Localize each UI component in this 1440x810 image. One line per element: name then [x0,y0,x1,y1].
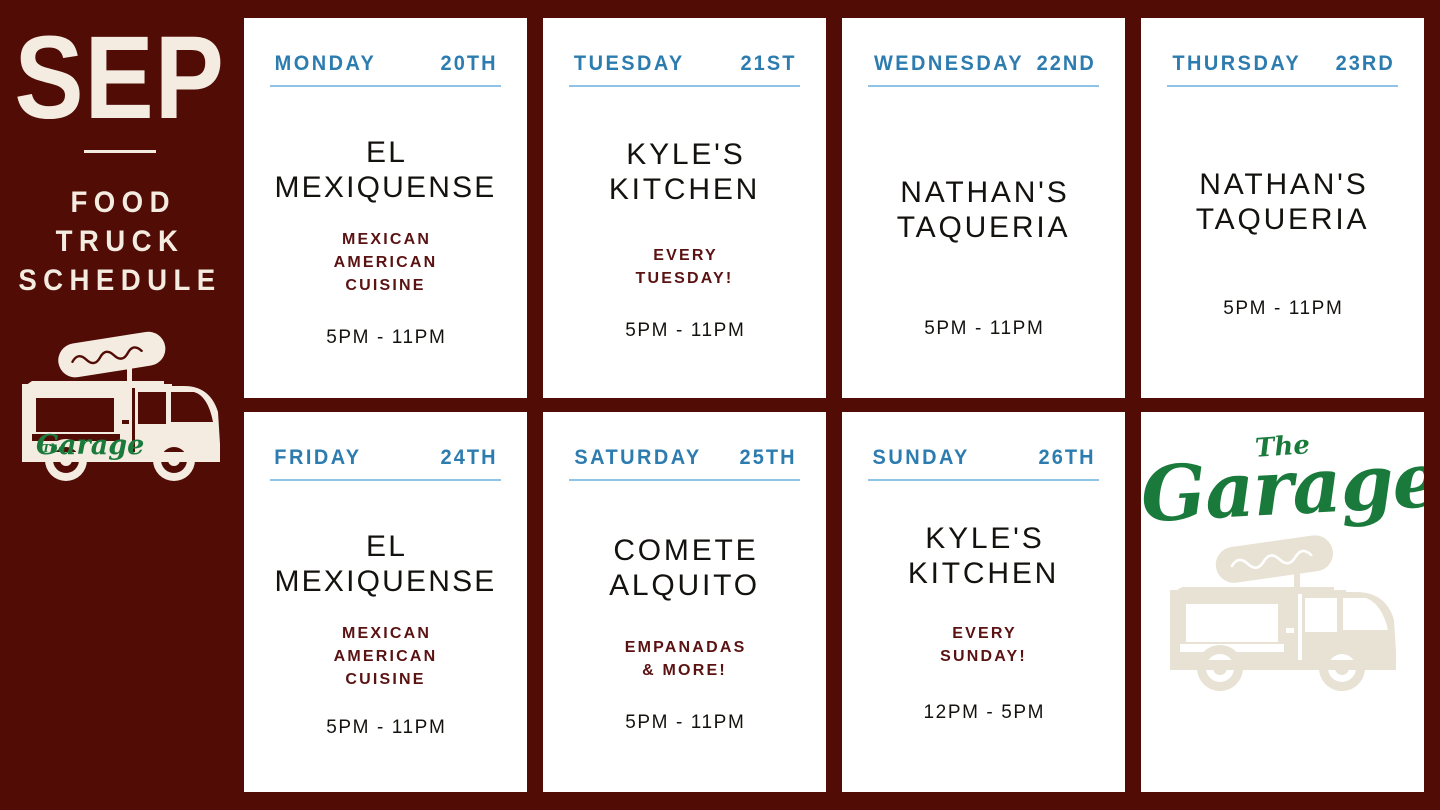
card-body: NATHAN'S TAQUERIA 5PM - 11PM [1167,87,1398,378]
tagline-line-1: MEXICAN [342,231,431,248]
vendor-name: EL MEXIQUENSE [274,135,496,206]
card-header: THURSDAY 23RD [1167,52,1398,76]
day-label: MONDAY [275,52,377,76]
brand-logo-card: The Garage [1141,412,1424,792]
month-divider [84,150,156,153]
vendor-tagline: EMPANADAS & MORE! [623,636,747,682]
card-body: COMETE ALQUITO EMPANADAS & MORE! 5PM - 1… [569,481,800,772]
truck-logo-garage: Garage [36,430,144,461]
schedule-card-tuesday[interactable]: TUESDAY 21ST KYLE'S KITCHEN EVERY TUESDA… [543,18,826,398]
card-header: FRIDAY 24TH [270,446,501,470]
food-truck-schedule-poster: SEP FOOD TRUCK SCHEDULE [0,0,1440,810]
vendor-name: NATHAN'S TAQUERIA [1196,167,1370,238]
date-label: 25TH [739,446,796,470]
card-header: MONDAY 20TH [270,52,501,76]
vendor-tagline: EVERY TUESDAY! [636,244,734,290]
schedule-grid: MONDAY 20TH EL MEXIQUENSE MEXICAN AMERIC… [244,18,1424,792]
vendor-line-1: NATHAN'S [900,176,1069,209]
tagline-line-1: MEXICAN [342,625,431,642]
date-label: 20TH [440,52,497,76]
tagline-line-3: CUISINE [345,671,425,688]
schedule-card-thursday[interactable]: THURSDAY 23RD NATHAN'S TAQUERIA 5PM - 11… [1141,18,1424,398]
vendor-name: KYLE'S KITCHEN [908,521,1059,592]
card-body: NATHAN'S TAQUERIA 5PM - 11PM [868,87,1099,378]
tagline-line-2: AMERICAN [334,648,438,665]
vendor-line-2: KITCHEN [609,173,760,206]
vendor-line-2: ALQUITO [609,569,760,602]
vendor-line-1: KYLE'S [925,522,1044,555]
hours-label: 5PM - 11PM [325,327,447,349]
day-label: SUNDAY [873,446,970,470]
date-label: 24TH [440,446,497,470]
hours-label: 5PM - 11PM [325,717,447,739]
vendor-line-2: MEXIQUENSE [274,565,496,598]
vendor-tagline: MEXICAN AMERICAN CUISINE [334,228,438,298]
date-label: 21ST [740,52,796,76]
schedule-card-sunday[interactable]: SUNDAY 26TH KYLE'S KITCHEN EVERY SUNDAY!… [842,412,1125,792]
food-truck-illustration: The Garage [14,326,226,496]
garage-logo: The Garage [1141,434,1424,526]
card-header: TUESDAY 21ST [569,52,800,76]
card-body: KYLE'S KITCHEN EVERY TUESDAY! 5PM - 11PM [569,87,800,378]
card-header: WEDNESDAY 22ND [868,52,1099,76]
card-body: EL MEXIQUENSE MEXICAN AMERICAN CUISINE 5… [270,481,501,772]
tagline-line-2: SUNDAY! [940,648,1027,665]
day-label: FRIDAY [274,446,361,470]
vendor-line-1: KYLE'S [626,138,745,171]
schedule-card-friday[interactable]: FRIDAY 24TH EL MEXIQUENSE MEXICAN AMERIC… [244,412,527,792]
schedule-card-monday[interactable]: MONDAY 20TH EL MEXIQUENSE MEXICAN AMERIC… [244,18,527,398]
vendor-name: KYLE'S KITCHEN [609,137,760,208]
vendor-line-1: NATHAN'S [1199,168,1368,201]
schedule-card-saturday[interactable]: SATURDAY 25TH COMETE ALQUITO EMPANADAS &… [543,412,826,792]
logo-food-truck-illustration [1158,532,1408,697]
vendor-line-2: TAQUERIA [1196,203,1370,236]
month-heading: SEP [15,22,225,134]
tagline-line-2: & MORE! [642,662,727,679]
vendor-tagline: MEXICAN AMERICAN CUISINE [334,622,438,692]
card-header: SATURDAY 25TH [569,446,800,470]
sidebar: SEP FOOD TRUCK SCHEDULE [0,0,240,810]
card-header: SUNDAY 26TH [868,446,1099,470]
vendor-tagline: EVERY SUNDAY! [940,622,1027,668]
vendor-name: NATHAN'S TAQUERIA [897,175,1071,246]
subtitle-line-2: SCHEDULE [18,264,221,297]
tagline-line-2: AMERICAN [334,254,438,271]
day-label: WEDNESDAY [874,52,1024,76]
day-label: THURSDAY [1172,52,1301,76]
tagline-line-3: CUISINE [345,277,425,294]
tagline-line-1: EVERY [653,247,718,264]
subtitle-line-1: FOOD TRUCK [56,186,185,258]
card-body: EL MEXIQUENSE MEXICAN AMERICAN CUISINE 5… [270,87,501,378]
vendor-line-2: KITCHEN [908,557,1059,590]
tagline-line-1: EMPANADAS [625,639,747,656]
tagline-line-2: TUESDAY! [636,270,734,287]
date-label: 26TH [1038,446,1095,470]
poster-subtitle: FOOD TRUCK SCHEDULE [10,183,231,300]
hours-label: 5PM - 11PM [624,320,746,342]
tagline-line-1: EVERY [952,625,1017,642]
logo-garage-text: Garage [1141,443,1424,534]
hours-label: 5PM - 11PM [1222,298,1344,320]
vendor-line-2: TAQUERIA [897,211,1071,244]
vendor-line-1: EL [366,136,407,169]
date-label: 23RD [1335,52,1394,76]
vendor-name: EL MEXIQUENSE [274,529,496,600]
date-label: 22ND [1036,52,1095,76]
day-label: TUESDAY [574,52,685,76]
hours-label: 5PM - 11PM [923,318,1045,340]
card-body: KYLE'S KITCHEN EVERY SUNDAY! 12PM - 5PM [868,481,1099,772]
vendor-line-2: MEXIQUENSE [274,171,496,204]
schedule-card-wednesday[interactable]: WEDNESDAY 22ND NATHAN'S TAQUERIA 5PM - 1… [842,18,1125,398]
vendor-name: COMETE ALQUITO [609,533,760,604]
vendor-line-1: EL [366,530,407,563]
hours-label: 12PM - 5PM [922,702,1045,724]
day-label: SATURDAY [574,446,701,470]
hours-label: 5PM - 11PM [624,712,746,734]
vendor-line-1: COMETE [613,534,758,567]
